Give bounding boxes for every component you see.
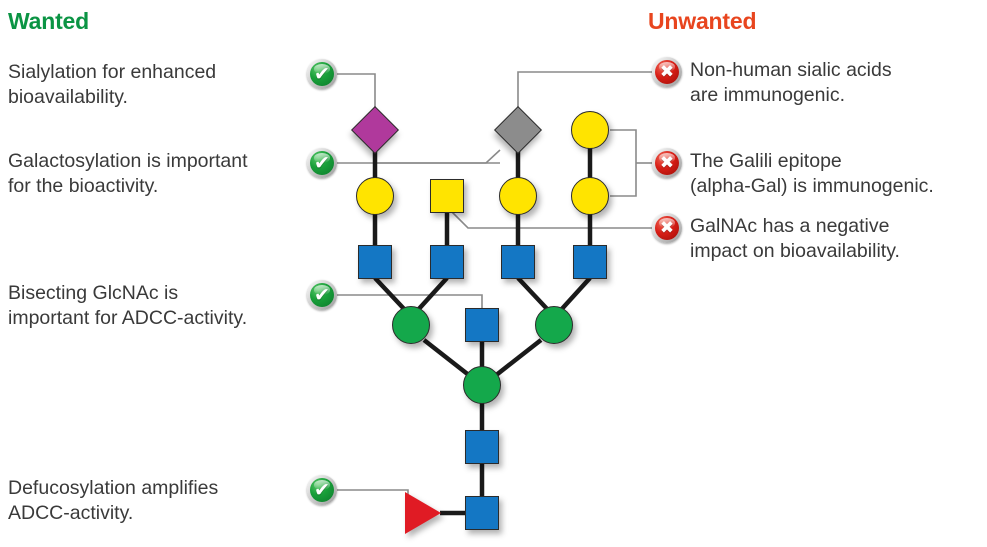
note-bisecting-glcnac: Bisecting GlcNAc is important for ADCC-a… [8, 281, 308, 331]
core-mannose-circle [463, 366, 501, 404]
cross-glyph: ✖ [652, 148, 682, 178]
galactose-circle-2 [499, 177, 537, 215]
glcnac-square-1 [358, 245, 392, 279]
galactose-circle-3 [571, 177, 609, 215]
check-glyph: ✔ [307, 148, 337, 178]
note-galili-epitope: The Galili epitope (alpha-Gal) is immuno… [690, 149, 987, 199]
glcnac-square-2 [430, 245, 464, 279]
bisecting-glcnac-square [465, 308, 499, 342]
check-icon-bisecting-glcnac[interactable]: ✔ [307, 280, 337, 310]
core-glcnac-square-lower [465, 496, 499, 530]
sialic-acid-diamond [351, 106, 399, 154]
mannose-circle-left [392, 306, 430, 344]
galili-gal-top-circle [571, 111, 609, 149]
cross-icon-galili-epitope[interactable]: ✖ [652, 148, 682, 178]
note-defucosylation: Defucosylation amplifies ADCC-activity. [8, 476, 308, 526]
neu5gc-diamond [494, 106, 542, 154]
cross-glyph: ✖ [652, 57, 682, 87]
cross-icon-non-human-sialic[interactable]: ✖ [652, 57, 682, 87]
check-glyph: ✔ [307, 280, 337, 310]
check-icon-sialylation[interactable]: ✔ [307, 59, 337, 89]
glcnac-square-4 [573, 245, 607, 279]
cross-icon-galnac[interactable]: ✖ [652, 213, 682, 243]
note-non-human-sialic-acids: Non-human sialic acids are immunogenic. [690, 58, 985, 108]
check-glyph: ✔ [307, 59, 337, 89]
note-galnac: GalNAc has a negative impact on bioavail… [690, 214, 987, 264]
note-sialylation: Sialylation for enhanced bioavailability… [8, 60, 298, 110]
cross-glyph: ✖ [652, 213, 682, 243]
core-glcnac-square-upper [465, 430, 499, 464]
glcnac-square-3 [501, 245, 535, 279]
note-galactosylation: Galactosylation is important for the bio… [8, 149, 308, 199]
fucose-triangle [405, 492, 441, 534]
galnac-square [430, 179, 464, 213]
check-glyph: ✔ [307, 475, 337, 505]
mannose-circle-right [535, 306, 573, 344]
galactose-circle-1 [356, 177, 394, 215]
glycoengineering-diagram: Wanted Unwanted [0, 0, 987, 547]
check-icon-galactosylation[interactable]: ✔ [307, 148, 337, 178]
check-icon-defucosylation[interactable]: ✔ [307, 475, 337, 505]
